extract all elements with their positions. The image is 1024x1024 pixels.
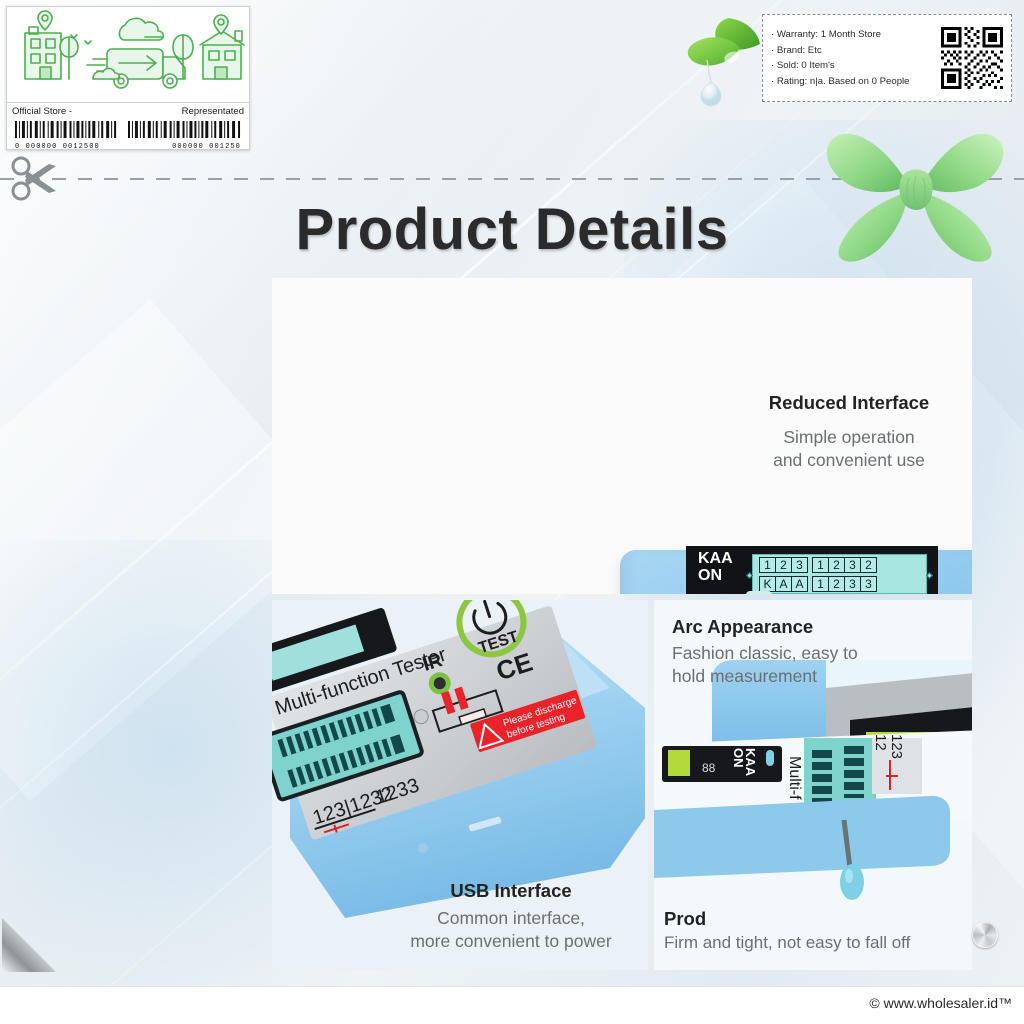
barcode-number-right: 000000 001250 (172, 143, 241, 151)
store-coupon-card: Official Store - Representated (6, 6, 250, 150)
barcode-bars (13, 121, 243, 138)
tester-angled-photo: Multi-function Tester (272, 600, 648, 918)
lcd-cell: 3 (860, 576, 877, 592)
caption-usb-interface: USB Interface Common interface, more con… (380, 880, 642, 953)
barcode-number-left: 0 000000 0012500 (15, 143, 100, 151)
caption-prod: Prod Firm and tight, not easy to fall of… (664, 908, 970, 954)
lcd-display: 1 2 3 1 2 3 2 K (752, 554, 927, 594)
lcd-cell: 3 (844, 576, 861, 592)
lcd-cell: K (759, 576, 776, 592)
lcd-cell: A (775, 576, 792, 592)
lcd-cell: 2 (828, 576, 845, 592)
product-details-page: Official Store - Representated (0, 0, 1024, 1024)
lcd-cell: 2 (775, 557, 792, 573)
footer-bar: © www.wholesaler.id™ (0, 986, 1024, 1024)
coupon-store-label: Official Store - (12, 106, 72, 117)
caption-reduced-interface: Reduced Interface Simple operation and c… (730, 392, 968, 472)
info-line-rating: · Rating: n|a. Based on 0 People (771, 74, 937, 90)
barcode: 0 000000 0012500 000000 001250 (13, 121, 243, 145)
product-info-card: · Warranty: 1 Month Store · Brand: Etc ·… (762, 14, 1012, 102)
info-line-list: · Warranty: 1 Month Store · Brand: Etc ·… (771, 27, 937, 89)
lcd-cell: 2 (828, 557, 845, 573)
svg-text:ON: ON (731, 748, 746, 768)
coupon-represent-label: Representated (182, 106, 244, 117)
caption-arc-appearance: Arc Appearance Fashion classic, easy to … (672, 616, 972, 688)
caption-subtitle: Common interface, more convenient to pow… (380, 907, 642, 953)
leaf-water-drop (676, 8, 772, 112)
caption-title: Arc Appearance (672, 616, 972, 638)
caption-subtitle: Simple operation and convenient use (730, 426, 968, 472)
svg-text:88: 88 (702, 761, 716, 775)
svg-text:123: 123 (888, 734, 905, 759)
qr-code (941, 27, 1003, 89)
caption-title: Prod (664, 908, 970, 930)
lcd-cell: A (791, 576, 808, 592)
lcd-row-2: K A A 1 2 3 3 (753, 574, 926, 593)
info-line-sold: · Sold: 0 Item's (771, 58, 937, 74)
lcd-cell: 2 (860, 557, 877, 573)
info-line-brand: · Brand: Etc (771, 43, 937, 59)
delivery-truck-city-illustration (7, 7, 249, 102)
corner-fold-ornament (2, 918, 56, 972)
lcd-contrast-tab (746, 591, 772, 594)
lcd-side-label: KAA ON (698, 550, 733, 584)
tester-closeup-photo: 88 KAA ON Multi-f (654, 660, 972, 950)
lcd-cell: 3 (791, 557, 808, 573)
info-line-warranty: · Warranty: 1 Month Store (771, 27, 937, 43)
lcd-row-1: 1 2 3 1 2 3 2 (753, 555, 926, 574)
caption-subtitle: Fashion classic, easy to hold measuremen… (672, 642, 972, 688)
caption-subtitle: Firm and tight, not easy to fall off (664, 931, 970, 954)
device-screen-bezel: KAA ON 1 2 3 1 2 (686, 546, 938, 594)
lcd-cell: 3 (844, 557, 861, 573)
tester-device-illustration: KAA ON 1 2 3 1 2 (620, 550, 972, 594)
svg-text:12: 12 (872, 734, 889, 751)
svg-text:Multi-f: Multi-f (786, 756, 803, 800)
lcd-cell: 1 (759, 557, 776, 573)
metal-knob-ornament (972, 922, 998, 948)
page-title: Product Details (0, 196, 1024, 263)
caption-title: Reduced Interface (730, 392, 968, 414)
footer-watermark: © www.wholesaler.id™ (869, 995, 1012, 1011)
lcd-cell: 1 (812, 576, 829, 592)
lcd-cell: 1 (812, 557, 829, 573)
caption-title: USB Interface (380, 880, 642, 902)
coupon-illustration (7, 7, 249, 103)
